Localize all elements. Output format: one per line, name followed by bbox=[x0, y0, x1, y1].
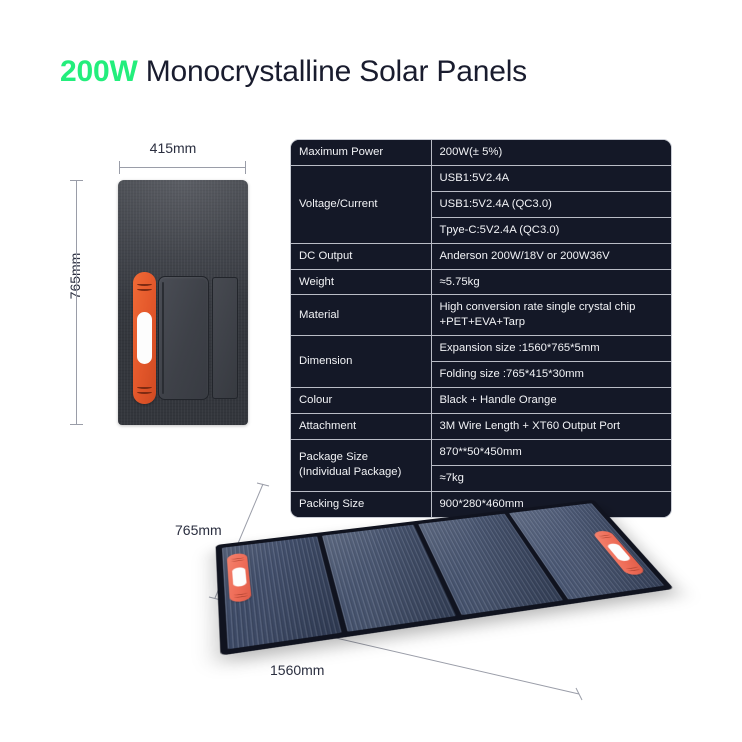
table-row: ColourBlack + Handle Orange bbox=[291, 388, 672, 414]
spec-value-cell: Anderson 200W/18V or 200W36V bbox=[431, 243, 672, 269]
handle-slot bbox=[231, 567, 246, 587]
spec-key-cell: Material bbox=[291, 295, 431, 336]
solar-segment bbox=[509, 503, 664, 599]
product-spec-page: 200W Monocrystalline Solar Panels 415mm … bbox=[0, 0, 742, 742]
spec-value-cell: 870**50*450mm bbox=[431, 439, 672, 465]
folded-solar-panel-bag bbox=[118, 180, 248, 425]
folded-height-dimension-label: 765mm bbox=[67, 231, 83, 321]
handle-slot bbox=[137, 312, 152, 364]
unfolded-height-dimension-label: 765mm bbox=[175, 522, 222, 538]
page-title-accent: 200W bbox=[60, 55, 138, 88]
spec-key-cell: Weight bbox=[291, 269, 431, 295]
spec-value-cell: Black + Handle Orange bbox=[431, 388, 672, 414]
spec-value-cell: ≈5.75kg bbox=[431, 269, 672, 295]
carry-handle-icon bbox=[133, 272, 156, 404]
table-row: Package Size(Individual Package)870**50*… bbox=[291, 439, 672, 465]
unfolded-panel-diagram: 765mm 1560mm bbox=[175, 470, 635, 700]
spec-key-cell: Voltage/Current bbox=[291, 165, 431, 243]
spec-value-cell: High conversion rate single crystal chip… bbox=[431, 295, 672, 336]
spec-value-cell: Folding size :765*415*30mm bbox=[431, 362, 672, 388]
spec-key-cell: Dimension bbox=[291, 336, 431, 388]
folded-height-dimension-line bbox=[76, 180, 77, 425]
spec-key-cell: Colour bbox=[291, 388, 431, 414]
page-title: 200W Monocrystalline Solar Panels bbox=[60, 55, 527, 89]
chevron-up-icon bbox=[137, 282, 152, 292]
specification-table: Maximum Power200W(± 5%)Voltage/CurrentUS… bbox=[290, 139, 672, 518]
table-row: Maximum Power200W(± 5%) bbox=[291, 140, 672, 165]
table-row: Weight≈5.75kg bbox=[291, 269, 672, 295]
solar-panel-face bbox=[216, 500, 674, 656]
spec-key-cell: DC Output bbox=[291, 243, 431, 269]
spec-value-cell: 200W(± 5%) bbox=[431, 140, 672, 165]
table-row: MaterialHigh conversion rate single crys… bbox=[291, 295, 672, 336]
spec-value-cell: USB1:5V2.4A (QC3.0) bbox=[431, 191, 672, 217]
zippered-accessory-pocket bbox=[158, 276, 209, 400]
table-row: DC OutputAnderson 200W/18V or 200W36V bbox=[291, 243, 672, 269]
spec-table-element: Maximum Power200W(± 5%)Voltage/CurrentUS… bbox=[291, 140, 672, 517]
folded-width-dimension-label: 415mm bbox=[118, 140, 228, 156]
chevron-down-icon bbox=[624, 565, 640, 571]
page-title-rest: Monocrystalline Solar Panels bbox=[138, 55, 527, 88]
table-row: DimensionExpansion size :1560*765*5mm bbox=[291, 336, 672, 362]
folded-panel-diagram: 415mm 765mm bbox=[56, 140, 286, 440]
chevron-down-icon bbox=[233, 591, 247, 598]
spec-key-cell: Maximum Power bbox=[291, 140, 431, 165]
spec-value-cell: 3M Wire Length + XT60 Output Port bbox=[431, 413, 672, 439]
narrow-side-pocket bbox=[212, 277, 238, 399]
unfolded-panel-body bbox=[216, 500, 674, 656]
folded-width-dimension-line bbox=[119, 167, 246, 168]
unfolded-panel-perspective bbox=[235, 476, 635, 656]
spec-value-cell: Expansion size :1560*765*5mm bbox=[431, 336, 672, 362]
spec-key-cell: Attachment bbox=[291, 413, 431, 439]
table-row: Voltage/CurrentUSB1:5V2.4A bbox=[291, 165, 672, 191]
chevron-down-icon bbox=[137, 384, 152, 394]
chevron-up-icon bbox=[231, 557, 244, 563]
spec-value-cell: Tpye-C:5V2.4A (QC3.0) bbox=[431, 217, 672, 243]
spec-value-cell: USB1:5V2.4A bbox=[431, 165, 672, 191]
unfolded-width-dimension-label: 1560mm bbox=[270, 662, 324, 678]
chevron-up-icon bbox=[598, 534, 612, 539]
table-row: Attachment3M Wire Length + XT60 Output P… bbox=[291, 413, 672, 439]
